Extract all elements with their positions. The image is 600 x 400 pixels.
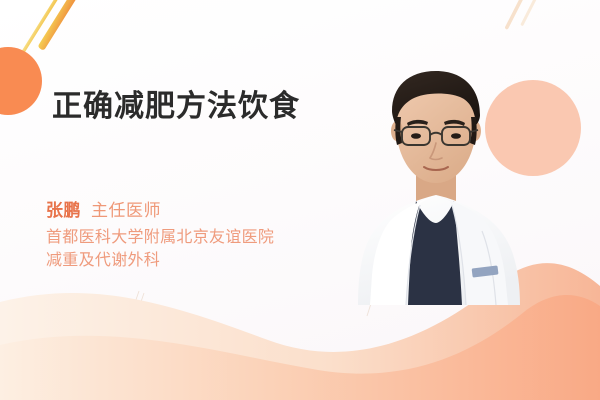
page-title: 正确减肥方法饮食 [52,88,352,126]
eye-left [411,133,421,139]
doctor-professional-title: 主任医师 [91,196,161,221]
affiliation-line-1: 首都医科大学附属北京友谊医院 [46,225,366,248]
video-cover-canvas: 正确减肥方法饮食 张鹏 主任医师 首都医科大学附属北京友谊医院 减重及代谢外科 [0,0,600,400]
doctor-portrait-illustration [350,55,540,305]
eye-right [451,133,461,139]
doctor-name: 张鹏 [46,196,81,221]
doctor-name-row: 张鹏 主任医师 [46,196,366,221]
doctor-portrait [350,55,540,305]
doctor-affiliation: 首都医科大学附属北京友谊医院 减重及代谢外科 [46,225,366,271]
affiliation-line-2: 减重及代谢外科 [46,248,366,271]
byline-block: 张鹏 主任医师 首都医科大学附属北京友谊医院 减重及代谢外科 [46,196,366,271]
title-block: 正确减肥方法饮食 [52,88,352,126]
